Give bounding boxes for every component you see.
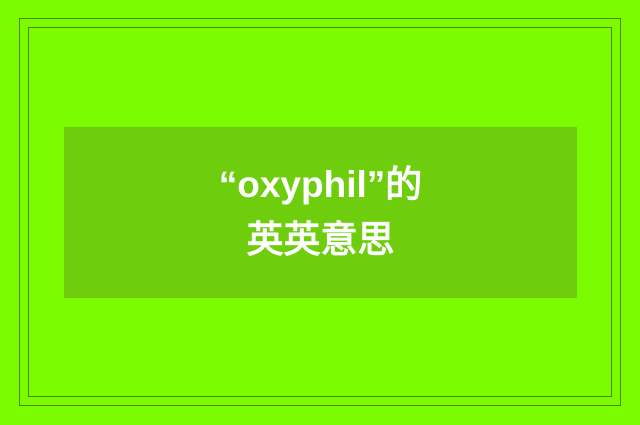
poster-canvas: “oxyphil”的英英意思 — [0, 0, 640, 425]
title-panel: “oxyphil”的英英意思 — [64, 127, 577, 298]
page-title: “oxyphil”的英英意思 — [216, 158, 426, 268]
